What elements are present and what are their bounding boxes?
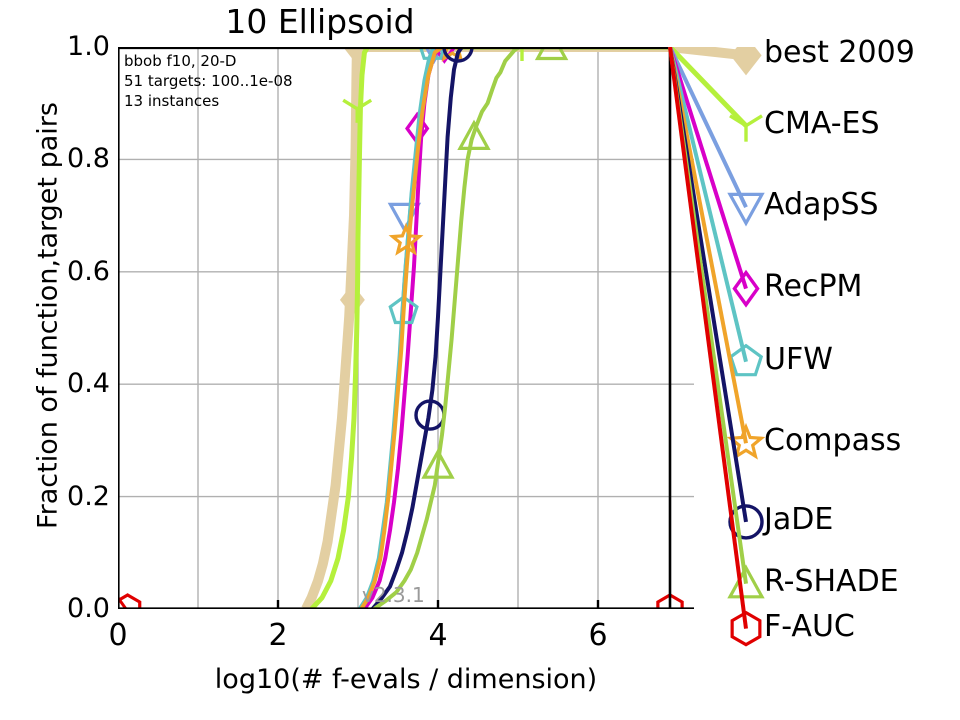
legend-marker-r-shade xyxy=(730,568,762,597)
y-tick-0.0: 0.0 xyxy=(14,595,110,622)
legend-label-best-2009[interactable]: best 2009 xyxy=(764,38,915,68)
version-label: v2.3.1 xyxy=(362,583,425,607)
series-line xyxy=(312,47,670,609)
legend-label-recpm[interactable]: RecPM xyxy=(764,272,862,302)
legend-label-r-shade[interactable]: R-SHADE xyxy=(764,567,899,597)
series-marker xyxy=(340,284,365,316)
annotation-line-3: 13 instances xyxy=(124,92,293,112)
series-ufw xyxy=(360,47,670,609)
series-line xyxy=(360,47,670,609)
annotation-line-1: bbob f10, 20-D xyxy=(124,52,293,72)
x-tick-6: 6 xyxy=(568,621,628,651)
legend-label-jade[interactable]: JaDE xyxy=(764,505,833,535)
legend-label-compass[interactable]: Compass xyxy=(764,426,901,456)
legend-label-ufw[interactable]: UFW xyxy=(764,345,833,375)
plot-area xyxy=(118,47,694,609)
annotation-box: bbob f10, 20-D 51 targets: 100..1e-08 13… xyxy=(124,52,293,111)
legend-marker-ufw xyxy=(731,346,761,375)
legend-marker-compass xyxy=(731,427,761,456)
x-tick-2: 2 xyxy=(248,621,308,651)
y-tick-1.0: 1.0 xyxy=(14,33,110,60)
y-tick-0.8: 0.8 xyxy=(14,145,110,172)
legend-marker-jade xyxy=(730,506,762,538)
legend-marker-cma-es xyxy=(730,116,762,142)
y-tick-0.6: 0.6 xyxy=(14,258,110,285)
plot-svg xyxy=(118,47,694,609)
legend-label-f-auc[interactable]: F-AUC xyxy=(764,612,855,642)
legend-marker-adapss xyxy=(730,194,762,223)
x-tick-0: 0 xyxy=(88,621,148,651)
y-tick-0.2: 0.2 xyxy=(14,483,110,510)
series-cma-es xyxy=(312,47,670,609)
annotation-line-2: 51 targets: 100..1e-08 xyxy=(124,72,293,92)
legend-label-adapss[interactable]: AdapSS xyxy=(764,190,879,220)
x-tick-4: 4 xyxy=(408,621,468,651)
legend-label-cma-es[interactable]: CMA-ES xyxy=(764,109,880,139)
y-axis-label: Fraction of function,target pairs xyxy=(33,16,64,616)
x-axis-label: log10(# f-evals / dimension) xyxy=(118,664,694,695)
y-tick-0.4: 0.4 xyxy=(14,370,110,397)
legend-marker-best-2009 xyxy=(730,47,761,75)
legend-marker-f-auc xyxy=(732,613,760,645)
legend-marker-recpm xyxy=(734,273,757,305)
chart-page: 10 Ellipsoid Fraction of function,target… xyxy=(0,0,960,720)
